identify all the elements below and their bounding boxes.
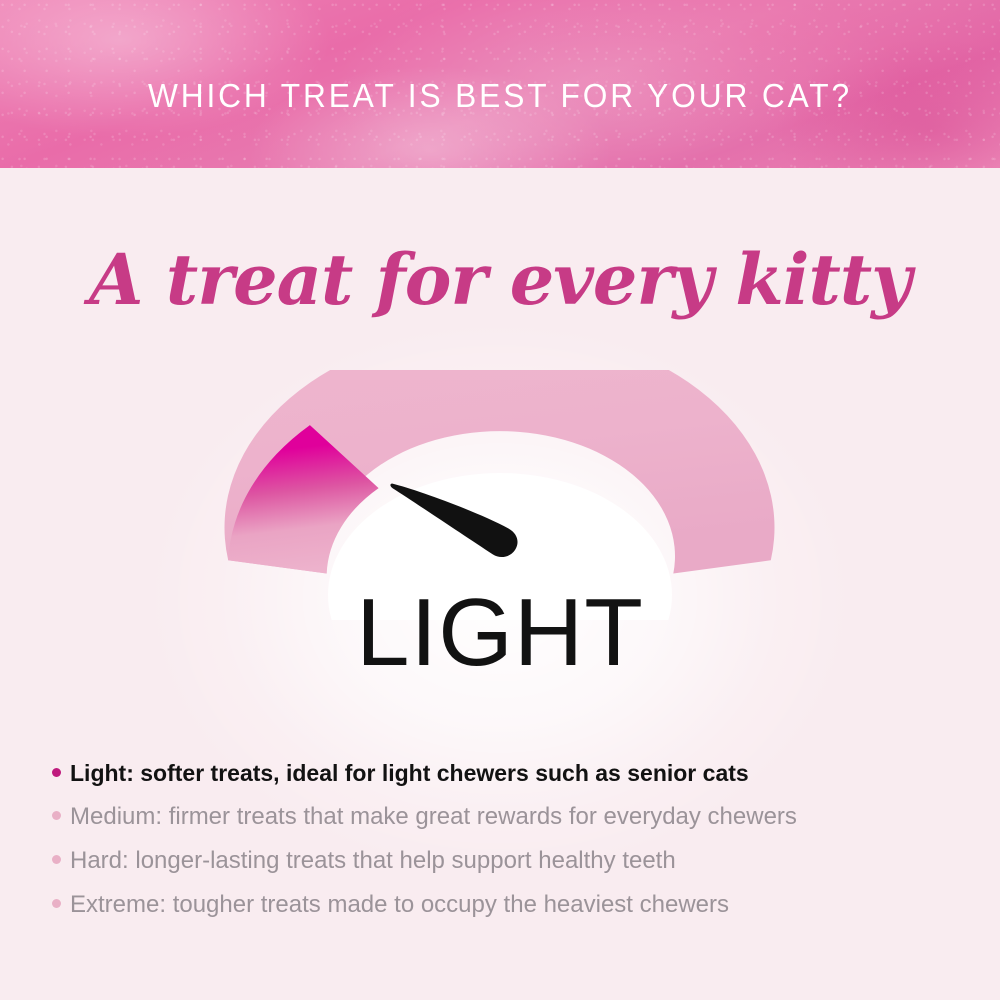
bullet-dot-icon xyxy=(52,899,61,908)
legend-item-label: Medium: firmer treats that make great re… xyxy=(70,802,797,832)
legend-item-label: Hard: longer-lasting treats that help su… xyxy=(70,846,676,876)
page-title: A treat for every kitty xyxy=(0,238,1000,322)
bullet-dot-icon xyxy=(52,768,61,777)
infographic-page: WHICH TREAT IS BEST FOR YOUR CAT? A trea… xyxy=(0,0,1000,1000)
treat-level-legend: Light: softer treats, ideal for light ch… xyxy=(52,758,952,934)
list-item[interactable]: Extreme: tougher treats made to occupy t… xyxy=(52,890,952,934)
gauge-selected-label: LIGHT xyxy=(0,578,1000,688)
bullet-dot-icon xyxy=(52,855,61,864)
list-item[interactable]: Hard: longer-lasting treats that help su… xyxy=(52,846,952,890)
list-item[interactable]: Light: softer treats, ideal for light ch… xyxy=(52,758,952,802)
legend-item-label: Light: softer treats, ideal for light ch… xyxy=(70,758,749,788)
list-item[interactable]: Medium: firmer treats that make great re… xyxy=(52,802,952,846)
header-title: WHICH TREAT IS BEST FOR YOUR CAT? xyxy=(20,76,980,116)
bullet-dot-icon xyxy=(52,811,61,820)
legend-item-label: Extreme: tougher treats made to occupy t… xyxy=(70,890,729,920)
